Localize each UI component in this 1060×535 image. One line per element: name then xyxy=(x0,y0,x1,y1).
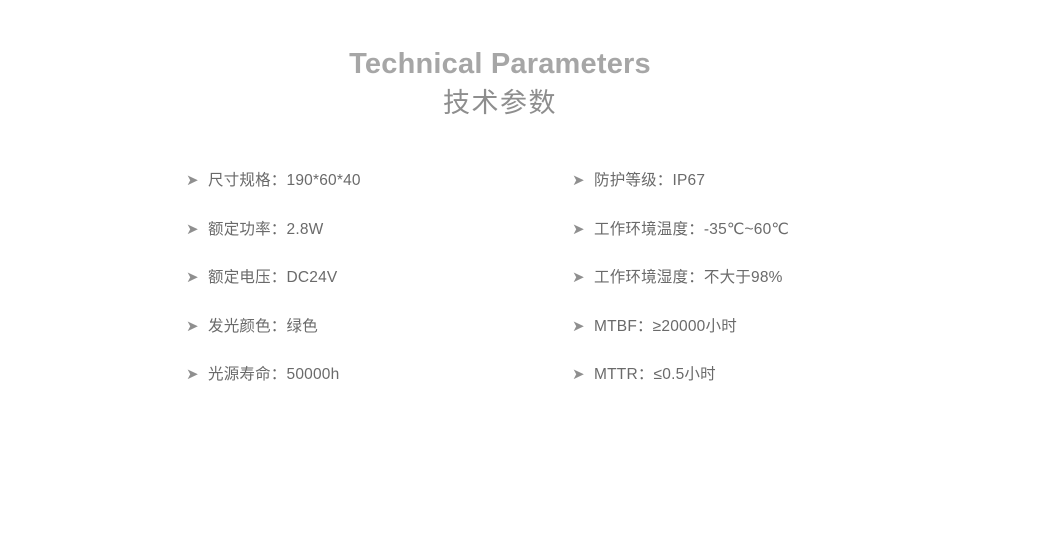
spec-text: 额定功率：2.8W xyxy=(208,221,323,239)
spec-text: 工作环境湿度：不大于98% xyxy=(594,269,783,287)
list-item: ➤ 尺寸规格：190*60*40 xyxy=(186,172,572,221)
list-item: ➤ 发光颜色：绿色 xyxy=(186,318,572,367)
spec-column-right: ➤ 防护等级：IP67 ➤ 工作环境温度：-35℃~60℃ ➤ 工作环境湿度：不… xyxy=(572,172,976,415)
list-item: ➤ 额定电压：DC24V xyxy=(186,269,572,318)
arrow-bullet-icon: ➤ xyxy=(572,318,594,336)
arrow-bullet-icon: ➤ xyxy=(572,366,594,384)
arrow-bullet-icon: ➤ xyxy=(572,172,594,190)
spec-text: 防护等级：IP67 xyxy=(594,172,705,190)
list-item: ➤ 工作环境湿度：不大于98% xyxy=(572,269,976,318)
arrow-bullet-icon: ➤ xyxy=(186,366,208,384)
arrow-bullet-icon: ➤ xyxy=(572,269,594,287)
list-item: ➤ MTTR：≤0.5小时 xyxy=(572,366,976,415)
spec-text: MTTR：≤0.5小时 xyxy=(594,366,716,384)
list-item: ➤ 工作环境温度：-35℃~60℃ xyxy=(572,221,976,270)
arrow-bullet-icon: ➤ xyxy=(186,172,208,190)
spec-text: MTBF：≥20000小时 xyxy=(594,318,737,336)
arrow-bullet-icon: ➤ xyxy=(572,221,594,239)
spec-text: 尺寸规格：190*60*40 xyxy=(208,172,361,190)
arrow-bullet-icon: ➤ xyxy=(186,221,208,239)
arrow-bullet-icon: ➤ xyxy=(186,318,208,336)
spec-column-left: ➤ 尺寸规格：190*60*40 ➤ 额定功率：2.8W ➤ 额定电压：DC24… xyxy=(186,172,572,415)
list-item: ➤ 光源寿命：50000h xyxy=(186,366,572,415)
page-title-chinese: 技术参数 xyxy=(0,86,1000,120)
specifications-list: ➤ 尺寸规格：190*60*40 ➤ 额定功率：2.8W ➤ 额定电压：DC24… xyxy=(186,172,976,415)
technical-parameters-page: Technical Parameters 技术参数 ➤ 尺寸规格：190*60*… xyxy=(0,0,1060,535)
arrow-bullet-icon: ➤ xyxy=(186,269,208,287)
spec-text: 发光颜色：绿色 xyxy=(208,318,318,336)
list-item: ➤ 额定功率：2.8W xyxy=(186,221,572,270)
spec-text: 工作环境温度：-35℃~60℃ xyxy=(594,221,789,239)
heading-block: Technical Parameters 技术参数 xyxy=(0,46,1000,120)
spec-text: 额定电压：DC24V xyxy=(208,269,337,287)
list-item: ➤ 防护等级：IP67 xyxy=(572,172,976,221)
list-item: ➤ MTBF：≥20000小时 xyxy=(572,318,976,367)
page-title-english: Technical Parameters xyxy=(0,46,1000,82)
spec-text: 光源寿命：50000h xyxy=(208,366,339,384)
